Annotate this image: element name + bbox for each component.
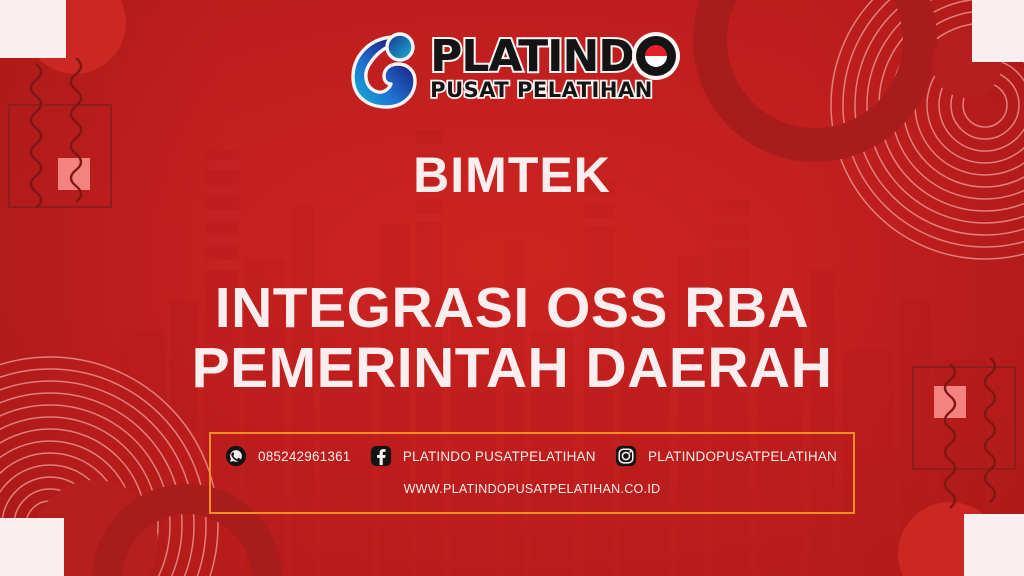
logo-flag-o-icon <box>636 36 676 76</box>
corner-notch-bottom-left <box>0 518 64 576</box>
corner-notch-bottom-right <box>964 514 1024 576</box>
instagram-name: PLATINDOPUSATPELATIHAN <box>648 449 837 464</box>
contact-instagram[interactable]: PLATINDOPUSATPELATIHAN <box>615 445 837 467</box>
logo-wordmark: PLATIND PUSAT PELATIHAN <box>430 36 676 102</box>
contact-row: 085242961361 PLATINDO PUSATPELATIHAN PLA… <box>211 434 853 467</box>
event-title-line-1: INTEGRASI OSS RBA <box>0 278 1024 338</box>
instagram-icon <box>615 445 637 467</box>
event-title-line-2: PEMERINTAH DAERAH <box>0 338 1024 398</box>
promo-banner: PLATIND PUSAT PELATIHAN BIMTEK INTEGRASI… <box>0 0 1024 576</box>
contact-whatsapp[interactable]: 085242961361 <box>225 445 351 467</box>
logo-word-main: PLATIND <box>430 36 676 77</box>
whatsapp-number: 085242961361 <box>258 449 351 464</box>
platindo-swoosh-logo-icon <box>348 27 420 111</box>
logo-word-sub: PUSAT PELATIHAN <box>430 78 653 102</box>
facebook-name: PLATINDO PUSATPELATIHAN <box>403 449 596 464</box>
event-kicker: BIMTEK <box>0 150 1024 200</box>
whatsapp-icon <box>225 445 247 467</box>
facebook-icon <box>370 445 392 467</box>
logo-word-main-text: PLATIND <box>430 36 634 77</box>
website-url[interactable]: WWW.PLATINDOPUSATPELATIHAN.CO.ID <box>211 482 853 496</box>
brand-logo: PLATIND PUSAT PELATIHAN <box>0 27 1024 111</box>
contact-facebook[interactable]: PLATINDO PUSATPELATIHAN <box>370 445 596 467</box>
contact-info-box: 085242961361 PLATINDO PUSATPELATIHAN PLA… <box>209 432 855 514</box>
headings-block: BIMTEK INTEGRASI OSS RBA PEMERINTAH DAER… <box>0 150 1024 399</box>
event-title: INTEGRASI OSS RBA PEMERINTAH DAERAH <box>0 278 1024 399</box>
